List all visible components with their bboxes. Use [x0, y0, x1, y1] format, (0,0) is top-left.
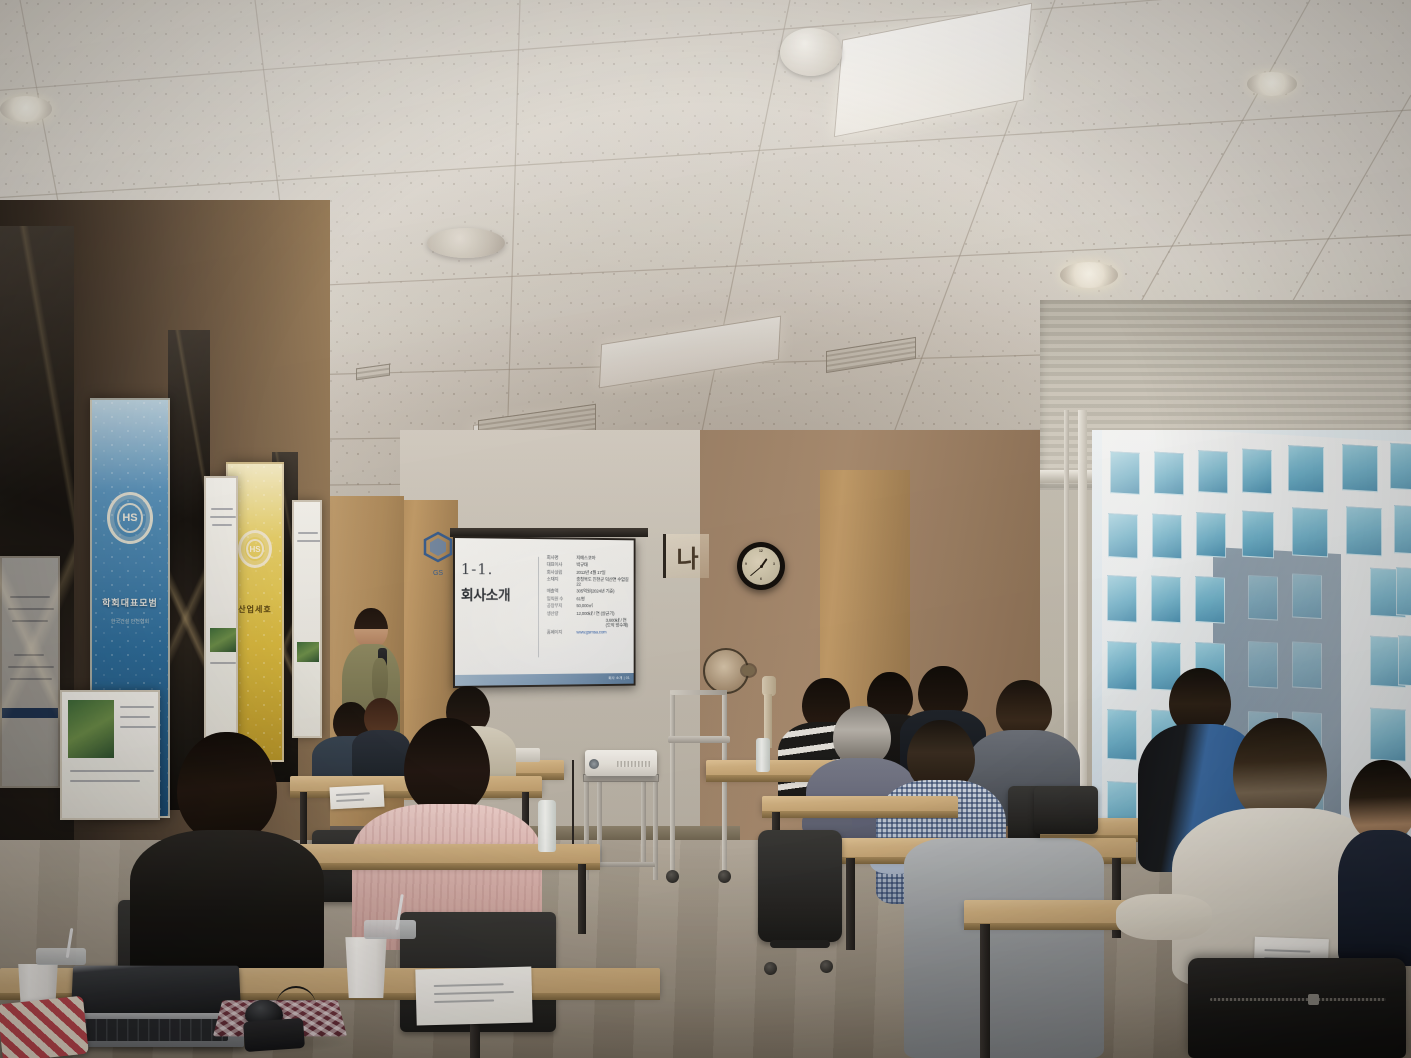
slide-row-value: 지에스코아 — [576, 556, 595, 561]
slide-row-label: 공장부지 — [547, 604, 572, 609]
projection-screen: 1-1. 회사소개 회사명지에스코아 대표이사박규태 회사설립2012년 4월 … — [453, 536, 636, 688]
attendee-head — [1233, 718, 1327, 822]
water-bottle-right — [756, 738, 770, 772]
slide-row-value: 50,000㎡ — [576, 604, 592, 609]
chair-back-far-right[interactable] — [1034, 786, 1098, 834]
slide-section-number: 1-1. — [461, 560, 529, 578]
slide-row: 홈페이지www.gsmsa.com — [547, 631, 630, 636]
fan-neck — [762, 676, 776, 696]
slide-row: 생산량12,000㎘ / 연 (살균기) — [547, 612, 630, 617]
slide-row: 임직원 수61명 — [547, 597, 630, 602]
chair-caster — [764, 962, 777, 975]
slide-row-label: 회사설립 — [547, 571, 572, 576]
attendee-black-tshirt — [130, 732, 324, 974]
attendee-grey-jacket-front — [904, 838, 1104, 1058]
chair-base — [770, 940, 830, 948]
projector-vents — [617, 761, 651, 767]
association-emblem-icon: HS — [107, 492, 153, 544]
phone-on-desk[interactable] — [243, 1018, 305, 1052]
presenter-head — [354, 608, 388, 648]
air-vent-2 — [826, 337, 916, 373]
slide-row-value: 305억원(2024년 기준) — [576, 590, 614, 595]
attendee-body — [904, 838, 1104, 1058]
cup-lid — [364, 920, 416, 939]
slide-row-label: 소재지 — [547, 578, 572, 588]
recessed-downlight-5 — [1247, 72, 1297, 96]
slide-row-label: 임직원 수 — [547, 597, 572, 602]
recessed-downlight-4 — [1060, 262, 1118, 288]
slide-row-value: www.gsmsa.com — [576, 631, 606, 636]
clock-face: 12 3 6 9 — [742, 547, 780, 585]
slide-row: 대표이사박규태 — [547, 563, 630, 568]
coffee-cup-center[interactable] — [366, 920, 414, 998]
laptop-bag[interactable] — [1188, 958, 1406, 1058]
ceiling-speaker-icon — [427, 228, 505, 258]
presenter-arm — [372, 658, 388, 702]
slide-divider — [538, 557, 539, 657]
poster-subcaption-blue: 한국건설 안전협회 — [92, 618, 168, 625]
slide-row: 공장부지50,000㎡ — [547, 604, 630, 609]
slide-footer-bar: 회사 소개 | 01 — [455, 673, 634, 686]
chair-caster — [820, 960, 833, 973]
slide-row-value: 2012년 4월 17일 — [576, 571, 605, 576]
ceiling-light-panel-1 — [834, 3, 1032, 138]
projector[interactable] — [585, 750, 657, 776]
company-logo-icon: GS — [417, 527, 459, 587]
seminar-room-photo: HS 학회대표모범 한국건설 안전협회 HS 산업세호 — [0, 0, 1411, 1058]
slide-footer-label: 회사 소개 | 01 — [608, 676, 630, 681]
slide-row-label: 홈페이지 — [547, 631, 572, 636]
slide-row: 회사설립2012년 4월 17일 — [547, 571, 630, 576]
svg-text:GS: GS — [433, 570, 443, 577]
slide-title: 회사소개 — [461, 585, 529, 605]
attendee-navy-shirt — [1338, 760, 1411, 960]
slide-row: 소재지충청북도 진천군 덕산면 수암길 22 — [547, 578, 630, 588]
desk-row-2-right — [762, 796, 958, 812]
slide-row-label: 회사명 — [547, 556, 572, 561]
projector-lens-icon — [589, 759, 599, 769]
attendee-body — [1338, 830, 1411, 966]
slide-row-value: 3,600㎘ / 연 (도막 방수재) — [606, 619, 630, 628]
chair-back-right-front[interactable] — [758, 830, 842, 942]
slide-fact-table: 회사명지에스코아 대표이사박규태 회사설립2012년 4월 17일 소재지충청북… — [547, 556, 630, 638]
desk-leg — [846, 858, 855, 950]
quality-emblem-icon: HS — [238, 530, 272, 568]
fan-hub — [742, 665, 755, 676]
attendee-arm — [1116, 894, 1212, 940]
slide-row-label: 매출액 — [547, 590, 572, 595]
laptop-keyboard[interactable] — [76, 1019, 228, 1041]
presentation-slide: 1-1. 회사소개 회사명지에스코아 대표이사박규태 회사설립2012년 4월 … — [455, 538, 634, 686]
clock-minute-hand — [750, 566, 762, 576]
slide-row-value: 61명 — [576, 597, 584, 602]
slide-row-label: 대표이사 — [547, 563, 572, 568]
desk-leg — [578, 864, 586, 934]
laptop-screen — [71, 966, 241, 1017]
handout-paper-mid-left[interactable] — [329, 785, 384, 810]
slide-row: 매출액305억원(2024년 기준) — [547, 590, 630, 595]
bag-zipper-pull-icon — [1308, 994, 1319, 1005]
slide-row-label: 생산량 — [547, 612, 572, 617]
room-sign: 나 — [663, 534, 709, 578]
slide-row: 3,600㎘ / 연 (도막 방수재) — [547, 619, 630, 629]
slide-row-value: 12,000㎘ / 연 (살균기) — [576, 612, 614, 617]
ceiling-light-panel-2 — [599, 316, 781, 389]
bag-zipper — [1210, 998, 1386, 1001]
equipment-trolley — [668, 690, 730, 885]
wall-clock: 12 3 6 9 — [737, 542, 785, 590]
snack-bag — [0, 996, 89, 1058]
slide-row: 회사명지에스코아 — [547, 556, 630, 561]
attendee-head — [404, 718, 490, 814]
attendee-head — [177, 732, 277, 842]
cup-body — [342, 937, 390, 998]
smoke-detector-icon — [780, 28, 842, 76]
cup-lid — [36, 948, 86, 965]
slide-row-label — [547, 619, 572, 628]
attendee-body — [130, 830, 324, 980]
air-vent-3 — [356, 364, 390, 381]
slide-row-value: 박규태 — [576, 563, 587, 568]
slide-row-value: 충청북도 진천군 덕산면 수암길 22 — [576, 578, 630, 588]
desk-leg — [980, 924, 990, 1058]
room-sign-label: 나 — [676, 539, 698, 574]
pedestal-fan[interactable] — [726, 648, 780, 748]
slide-heading-block: 1-1. 회사소개 — [461, 560, 529, 605]
info-board-mid — [204, 476, 238, 738]
info-board-left — [0, 556, 60, 788]
poster-caption-blue: 학회대표모범 — [92, 596, 168, 609]
clock-center — [760, 565, 763, 568]
water-bottle — [538, 800, 556, 852]
handout-paper-front[interactable] — [415, 966, 532, 1025]
recessed-downlight-1 — [0, 96, 52, 122]
